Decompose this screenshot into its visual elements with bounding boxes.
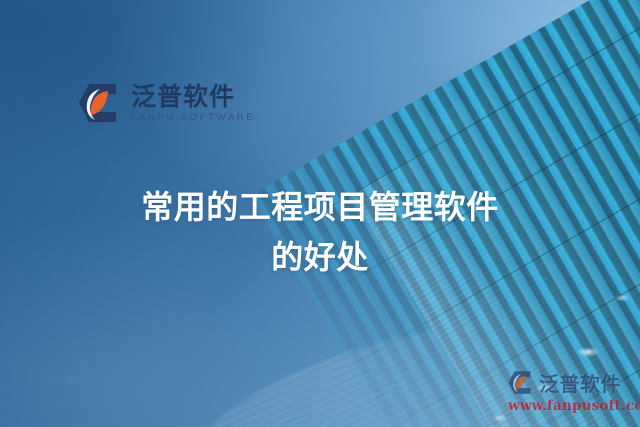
fanpu-hexagon-swoosh-mark-icon xyxy=(78,82,122,124)
page-title: 常用的工程项目管理软件 的好处 xyxy=(0,182,640,282)
watermark-logo-row: 泛普软件 xyxy=(508,368,636,397)
logo-wordmark: 泛普软件 FANPU SOFTWARE xyxy=(131,84,255,123)
logo-company-cn: 泛普软件 xyxy=(131,84,255,109)
watermark-company-cn: 泛普软件 xyxy=(539,368,621,397)
page-title-line-2: 的好处 xyxy=(0,232,640,282)
page-title-line-1: 常用的工程项目管理软件 xyxy=(0,182,640,232)
watermark-url: www.fanpusoft.com xyxy=(508,398,636,414)
watermark-fanpu-hexagon-swoosh-mark-icon xyxy=(508,370,534,395)
promo-banner: 泛普软件 FANPU SOFTWARE 常用的工程项目管理软件 的好处 泛普软件… xyxy=(0,0,640,427)
logo-company-en: FANPU SOFTWARE xyxy=(131,113,255,123)
watermark: 泛普软件 www.fanpusoft.com xyxy=(508,368,636,414)
company-logo: 泛普软件 FANPU SOFTWARE xyxy=(78,82,255,124)
